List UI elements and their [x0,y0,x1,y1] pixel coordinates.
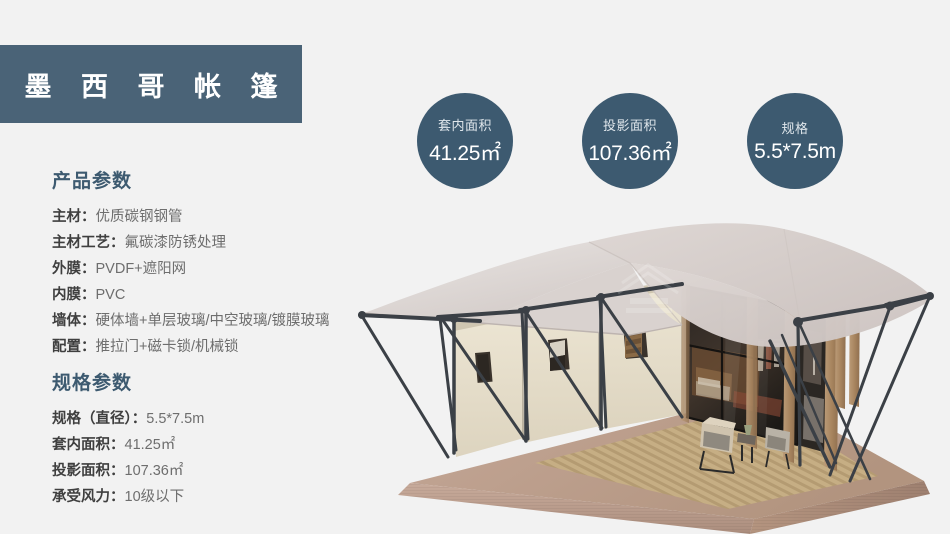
spec-row: 配置：推拉门+磁卡锁/机械锁 [52,334,330,360]
spec-row: 规格（直径）：5.5*7.5m [52,406,204,432]
stat-label: 规格 [781,118,808,137]
page-title: 墨 西 哥 帐 篷 [13,65,288,104]
spec-key: 套内面积： [52,437,125,453]
size-spec-heading: 规格参数 [52,368,204,395]
spec-key: 外膜： [52,261,96,277]
stat-label: 投影面积 [603,115,657,134]
spec-value: 硬体墙+单层玻璃/中空玻璃/镀膜玻璃 [96,313,330,329]
tent-illustration [330,195,950,534]
spec-row: 主材：优质碳钢钢管 [52,204,330,230]
spec-value: 107.36㎡ [125,463,184,479]
size-spec-block: 规格参数 规格（直径）：5.5*7.5m 套内面积：41.25㎡ 投影面积：10… [52,368,204,510]
spec-key: 配置： [52,339,96,355]
spec-row: 主材工艺：氟碳漆防锈处理 [52,230,330,256]
spec-row: 内膜：PVC [52,282,330,308]
product-spec-block: 产品参数 主材：优质碳钢钢管 主材工艺：氟碳漆防锈处理 外膜：PVDF+遮阳网 … [52,166,330,360]
spec-key: 规格（直径）： [52,411,146,427]
page-title-banner: 墨 西 哥 帐 篷 [0,45,302,123]
spec-row: 承受风力：10级以下 [52,484,204,510]
spec-value: PVDF+遮阳网 [96,261,187,277]
spec-row: 墙体：硬体墙+单层玻璃/中空玻璃/镀膜玻璃 [52,308,330,334]
page-root: 墨 西 哥 帐 篷 套内面积 41.25㎡ 投影面积 107.36㎡ 规格 5.… [0,0,950,534]
spec-value: 推拉门+磁卡锁/机械锁 [96,339,239,355]
spec-value: 41.25㎡ [125,437,176,453]
spec-key: 主材： [52,209,96,225]
stat-label: 套内面积 [438,115,492,134]
stat-value: 41.25㎡ [429,137,501,167]
spec-value: 氟碳漆防锈处理 [125,235,227,251]
stat-value: 107.36㎡ [588,137,671,167]
stat-badge-interior-area: 套内面积 41.25㎡ [417,93,513,189]
spec-value: 优质碳钢钢管 [96,209,183,225]
product-spec-heading: 产品参数 [52,166,330,193]
spec-key: 内膜： [52,287,96,303]
spec-value: PVC [96,287,126,303]
spec-row: 投影面积：107.36㎡ [52,458,204,484]
spec-key: 承受风力： [52,489,125,505]
spec-value: 5.5*7.5m [146,411,204,427]
spec-key: 墙体： [52,313,96,329]
stat-value: 5.5*7.5m [754,140,836,164]
spec-key: 投影面积： [52,463,125,479]
spec-row: 套内面积：41.25㎡ [52,432,204,458]
stat-badge-dimensions: 规格 5.5*7.5m [747,93,843,189]
spec-key: 主材工艺： [52,235,125,251]
spec-row: 外膜：PVDF+遮阳网 [52,256,330,282]
stat-badge-projected-area: 投影面积 107.36㎡ [582,93,678,189]
spec-value: 10级以下 [125,489,185,505]
